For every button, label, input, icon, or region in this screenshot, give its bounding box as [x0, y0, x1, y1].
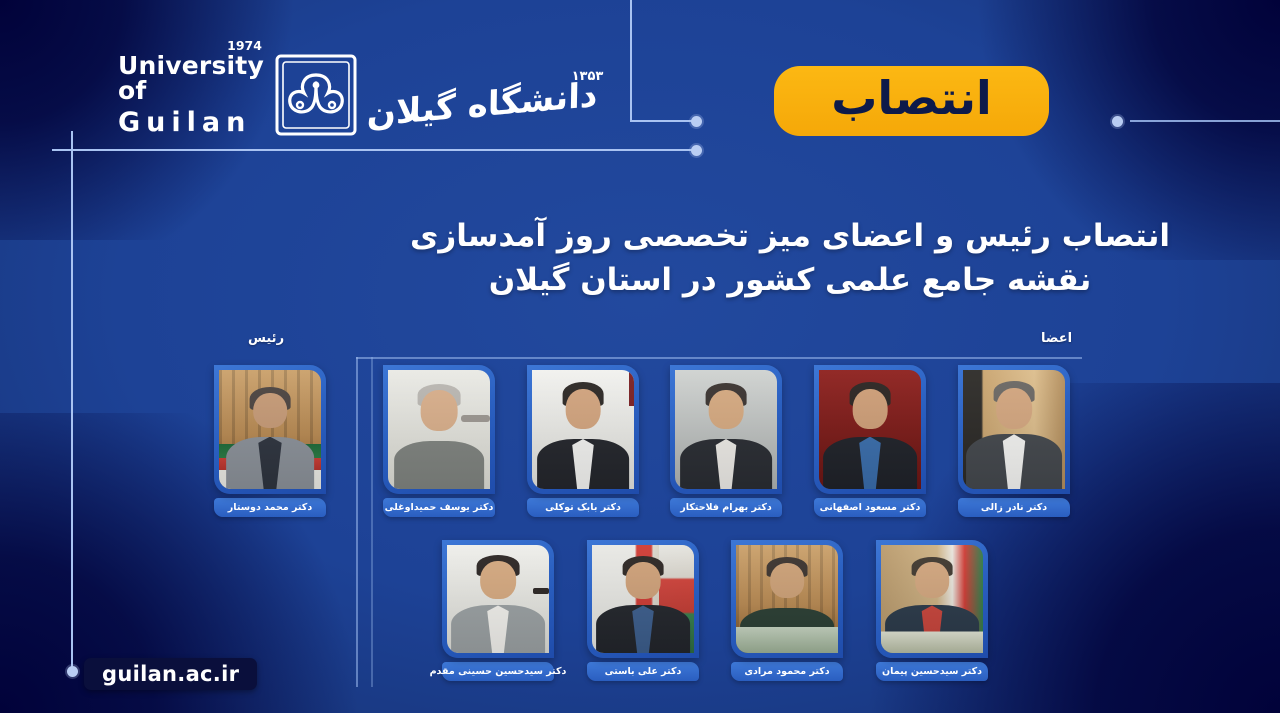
guilan-university-emblem-icon	[274, 53, 358, 137]
logo-english-text: 1974 University of Guilan	[118, 53, 264, 136]
logo-english-line1: University of	[118, 53, 264, 103]
deco-dot-bottom-left	[67, 666, 78, 677]
person-card-member-9[interactable]: دکتر سیدحسین پیمان	[876, 540, 988, 681]
person-name: دکتر علی باستی	[587, 662, 699, 681]
portrait-seyed-hossein-hosseini-moghaddam	[447, 545, 549, 653]
person-card-member-4[interactable]: دکتر مسعود اصفهانی	[814, 365, 926, 517]
person-name: دکتر بابک توکلی	[527, 498, 639, 517]
deco-dot-second	[691, 145, 702, 156]
page-title-line2: نقشه جامع علمی کشور در استان گیلان	[390, 258, 1190, 302]
portrait-frame	[442, 540, 554, 658]
portrait-yousef-hamidoghli	[388, 370, 490, 489]
person-card-member-1[interactable]: دکتر یوسف حمیداوغلی	[383, 365, 495, 517]
person-name: دکتر سیدحسین پیمان	[876, 662, 988, 681]
portrait-ali-basti	[592, 545, 694, 653]
person-card-member-5[interactable]: دکتر نادر زالی	[958, 365, 1070, 517]
portrait-mohammad-doostar	[219, 370, 321, 489]
portrait-frame	[527, 365, 639, 494]
portrait-frame	[587, 540, 699, 658]
poster-canvas: 1974 University of Guilan ۱۳۵۳ دانشگاه گ…	[0, 0, 1280, 713]
person-name: دکتر محمد دوستار	[214, 498, 326, 517]
portrait-frame	[958, 365, 1070, 494]
deco-dot-top	[691, 116, 702, 127]
appointment-badge-label: انتصاب	[831, 75, 992, 121]
person-name: دکتر بهرام فلاحتکار	[670, 498, 782, 517]
members-bracket-horizontal	[356, 357, 1082, 359]
deco-dot-right	[1112, 116, 1123, 127]
chair-section-caption: رئیس	[248, 331, 284, 346]
person-card-chair[interactable]: دکتر محمد دوستار	[214, 365, 326, 517]
portrait-frame	[814, 365, 926, 494]
person-card-member-2[interactable]: دکتر بابک توکلی	[527, 365, 639, 517]
portrait-bahram-falahatkar	[675, 370, 777, 489]
portrait-nader-zali	[963, 370, 1065, 489]
person-card-member-6[interactable]: دکتر سیدحسین حسینی مقدم	[442, 540, 554, 681]
university-logo: 1974 University of Guilan ۱۳۵۳ دانشگاه گ…	[118, 47, 568, 142]
portrait-seyed-hossein-peyman	[881, 545, 983, 653]
person-card-member-8[interactable]: دکتر محمود مرادی	[731, 540, 843, 681]
deco-line-left-vertical	[71, 131, 73, 670]
website-url-pill[interactable]: guilan.ac.ir	[84, 658, 257, 690]
members-section-caption: اعضا	[1041, 331, 1072, 346]
portrait-frame	[876, 540, 988, 658]
portrait-babak-tavakoli	[532, 370, 634, 489]
deco-line-second-horizontal	[52, 149, 696, 151]
person-card-member-7[interactable]: دکتر علی باستی	[587, 540, 699, 681]
deco-line-right-horizontal	[1130, 120, 1280, 122]
person-name: دکتر یوسف حمیداوغلی	[383, 498, 495, 517]
person-name: دکتر مسعود اصفهانی	[814, 498, 926, 517]
portrait-frame	[731, 540, 843, 658]
members-bracket-vertical-inner	[371, 357, 373, 687]
deco-line-top-vertical	[630, 0, 632, 122]
portrait-mahmoud-moradi	[736, 545, 838, 653]
portrait-frame	[670, 365, 782, 494]
portrait-masoud-esfahani	[819, 370, 921, 489]
page-title-line1: انتصاب رئیس و اعضای میز تخصصی روز آمدساز…	[390, 214, 1190, 258]
members-bracket-vertical	[356, 357, 358, 687]
logo-persian-name: دانشگاه گیلان	[366, 75, 597, 135]
person-card-member-3[interactable]: دکتر بهرام فلاحتکار	[670, 365, 782, 517]
portrait-frame	[383, 365, 495, 494]
logo-english-line2: Guilan	[118, 109, 251, 136]
website-url-text: guilan.ac.ir	[102, 662, 239, 686]
deco-line-top-horizontal	[630, 120, 696, 122]
person-name: دکتر نادر زالی	[958, 498, 1070, 517]
appointment-badge: انتصاب	[774, 66, 1049, 136]
logo-year-gregorian: 1974	[227, 40, 262, 53]
logo-persian-text: ۱۳۵۳ دانشگاه گیلان	[368, 75, 597, 115]
page-title: انتصاب رئیس و اعضای میز تخصصی روز آمدساز…	[390, 214, 1190, 302]
person-name: دکتر سیدحسین حسینی مقدم	[442, 662, 554, 681]
person-name: دکتر محمود مرادی	[731, 662, 843, 681]
portrait-frame	[214, 365, 326, 494]
